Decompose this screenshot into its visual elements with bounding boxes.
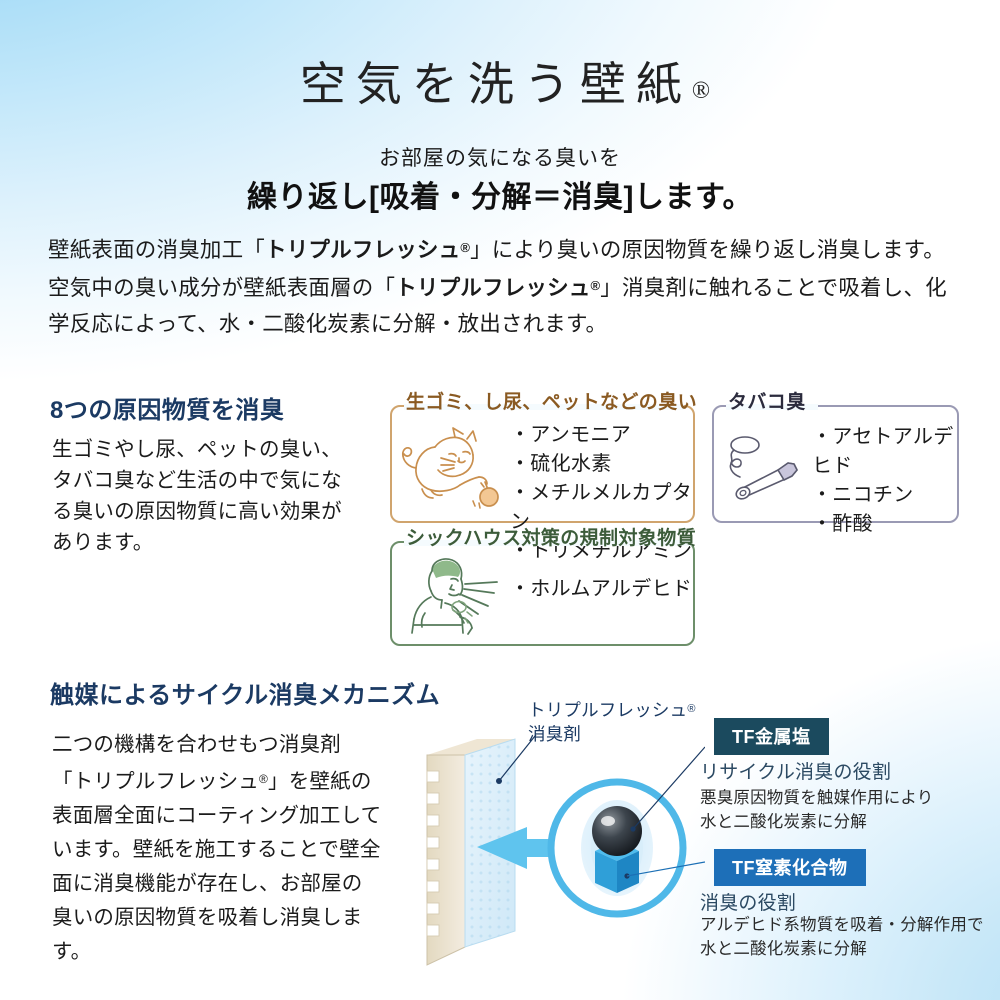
registered-mark-icon: ® (692, 78, 710, 104)
subtitle-large: 繰り返し[吸着・分解＝消臭]します。 (0, 172, 1000, 216)
badge-tf-nitrogen-compound: TF窒素化合物 (714, 849, 866, 886)
wallpaper-layer-diagram (415, 735, 705, 975)
box-items-sick-house: ・ホルムアルデヒド (510, 575, 692, 604)
intro-brand-2: トリプルフレッシュ (395, 276, 590, 300)
role-desc-line: 水と二酸化炭素に分解 (700, 937, 984, 961)
subtitle-small: お部屋の気になる臭いを (0, 142, 1000, 172)
role-description-nitrogen-compound: アルデヒド系物質を吸着・分解作用で 水と二酸化炭素に分解 (700, 913, 984, 961)
box-legend-sick-house: シックハウス対策の規制対象物質 (406, 529, 696, 549)
diagram-callout-label: トリプルフレッシュ® 消臭剤 (528, 697, 696, 746)
list-item: ・ホルムアルデヒド (510, 575, 692, 604)
registered-mark-icon: ® (591, 278, 601, 293)
section-body-substances: 生ゴミやし尿、ペットの臭い、タバコ臭など生活の中で気になる臭いの原因物質に高い効… (52, 434, 362, 558)
section-heading-substances: 8つの原因物質を消臭 (50, 390, 284, 425)
registered-mark-icon: ® (259, 772, 268, 786)
badge-tf-metal-salt: TF金属塩 (714, 718, 829, 755)
page-title: 空気を洗う壁紙® (0, 48, 1000, 114)
registered-mark-icon: ® (460, 240, 470, 255)
cat-illustration (397, 425, 509, 511)
role-title-metal-salt: リサイクル消臭の役割 (700, 757, 891, 784)
registered-mark-icon: ® (687, 703, 695, 715)
box-legend-tobacco: タバコ臭 (728, 393, 806, 413)
section-body-mechanism: 二つの機構を合わせもつ消臭剤「トリプルフレッシュ®」を壁紙の表面層全面にコーティ… (52, 728, 382, 969)
callout-label-line2: 消臭剤 (528, 722, 696, 746)
list-item: ・アセトアルデヒド (812, 423, 957, 481)
list-item: ・ニコチン (812, 481, 957, 510)
role-description-metal-salt: 悪臭原因物質を触媒作用により 水と二酸化炭素に分解 (700, 786, 933, 834)
list-item: ・酢酸 (812, 510, 957, 539)
role-desc-line: 水と二酸化炭素に分解 (700, 810, 933, 834)
page-title-text: 空気を洗う壁紙 (300, 59, 692, 110)
box-legend-waste-pet: 生ゴミ、し尿、ペットなどの臭い (406, 393, 697, 413)
list-item: ・アンモニア (510, 421, 693, 450)
intro-paragraph: 壁紙表面の消臭加工「トリプルフレッシュ®」により臭いの原因物質を繰り返し消臭しま… (48, 230, 958, 342)
role-desc-line: 悪臭原因物質を触媒作用により (700, 786, 933, 810)
wallpaper-side-edge (427, 755, 465, 965)
page-root: 空気を洗う壁紙® お部屋の気になる臭いを 繰り返し[吸着・分解＝消臭]します。 … (0, 0, 1000, 1000)
role-desc-line: アルデヒド系物質を吸着・分解作用で (700, 913, 984, 937)
role-title-nitrogen-compound: 消臭の役割 (700, 888, 796, 915)
cigarette-illustration (718, 430, 804, 500)
magnified-molecule-view (551, 782, 683, 914)
coughing-person-illustration (405, 555, 509, 635)
list-item: ・硫化水素 (510, 450, 693, 479)
section-heading-mechanism: 触媒によるサイクル消臭メカニズム (50, 675, 440, 710)
intro-brand-1: トリプルフレッシュ (265, 238, 460, 262)
mechanism-body-part2: 」を壁紙の表面層全面にコーティング加工しています。壁紙を施工することで壁全面に消… (52, 770, 381, 963)
callout-brand-text: トリプルフレッシュ (528, 700, 687, 720)
intro-text-part1: 壁紙表面の消臭加工「 (48, 238, 265, 262)
callout-label-line1: トリプルフレッシュ® (528, 697, 696, 722)
box-items-tobacco: ・アセトアルデヒド ・ニコチン ・酢酸 (812, 423, 957, 539)
